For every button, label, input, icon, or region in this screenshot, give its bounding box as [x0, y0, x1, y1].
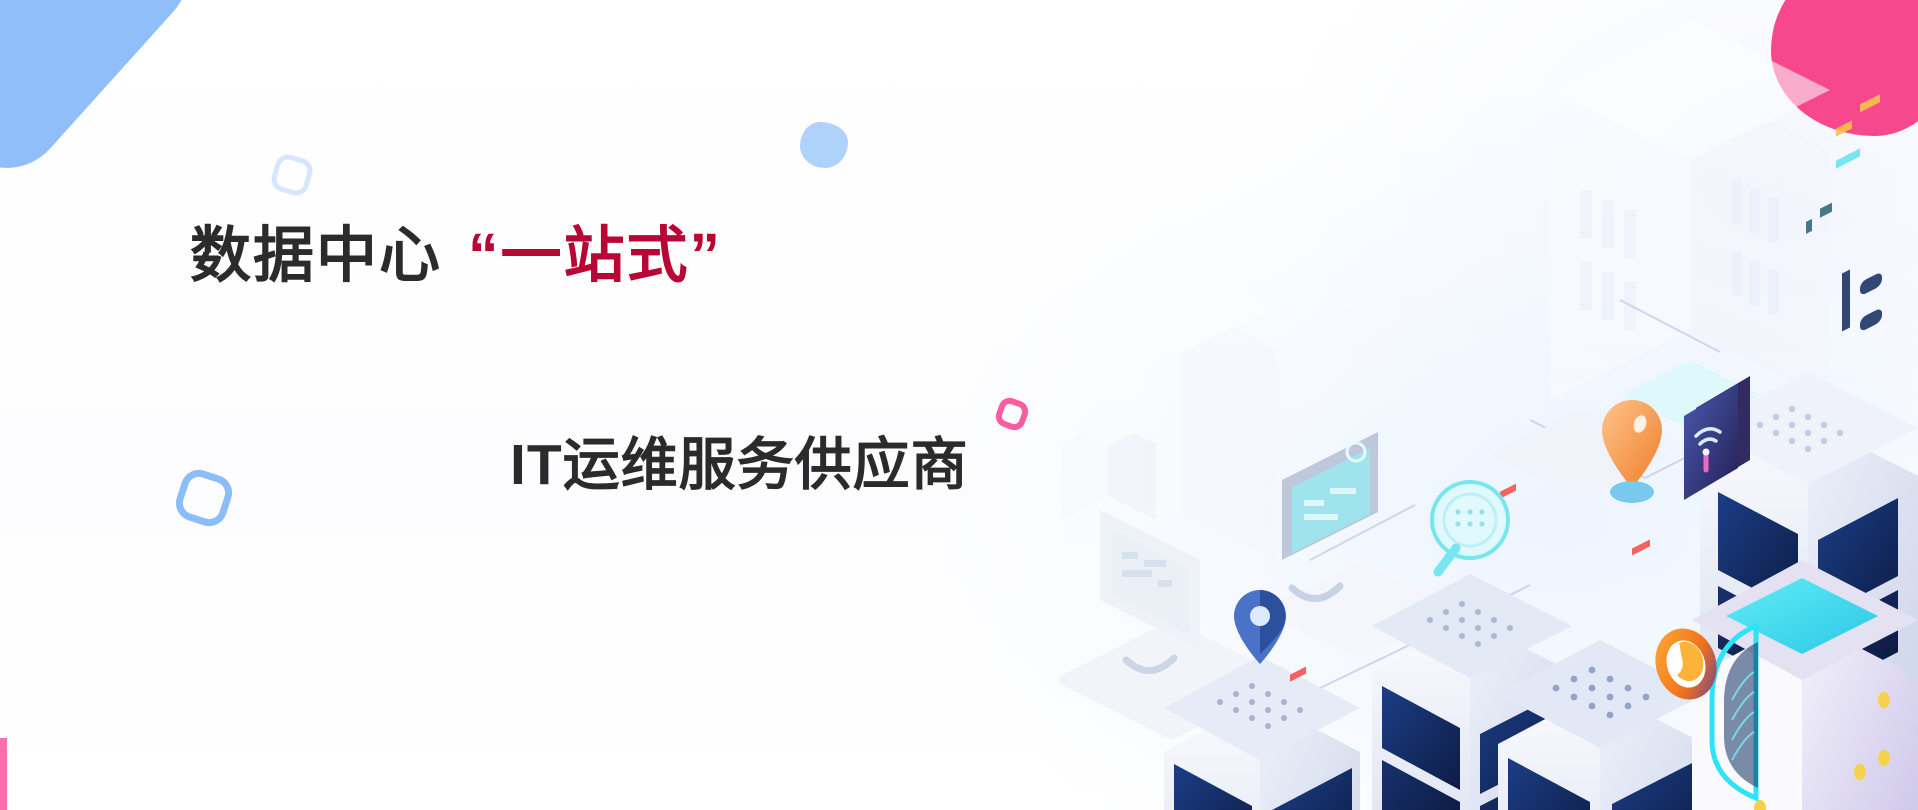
headline-quote-close: ”: [690, 221, 723, 289]
magnifier-icon: [1432, 482, 1508, 572]
headline-line-2: IT运维服务供应商: [510, 419, 1090, 501]
headline-prefix: 数据中心: [190, 221, 442, 289]
headline-block: 数据中心“一站式” IT运维服务供应商: [190, 222, 1090, 501]
headline-highlight: 一站式: [501, 221, 690, 289]
hero-banner: 数据中心“一站式” IT运维服务供应商: [0, 0, 1918, 810]
location-pin-blue-icon: [1234, 590, 1286, 664]
headline-quote-open: “: [468, 221, 501, 289]
headline-line-1: 数据中心“一站式”: [190, 222, 1090, 289]
location-pin-orange-icon: [1602, 400, 1662, 503]
building-back: [1550, 20, 1830, 400]
pink-edge-bar: [0, 738, 7, 810]
isometric-data-center-illustration: [1060, 0, 1918, 810]
